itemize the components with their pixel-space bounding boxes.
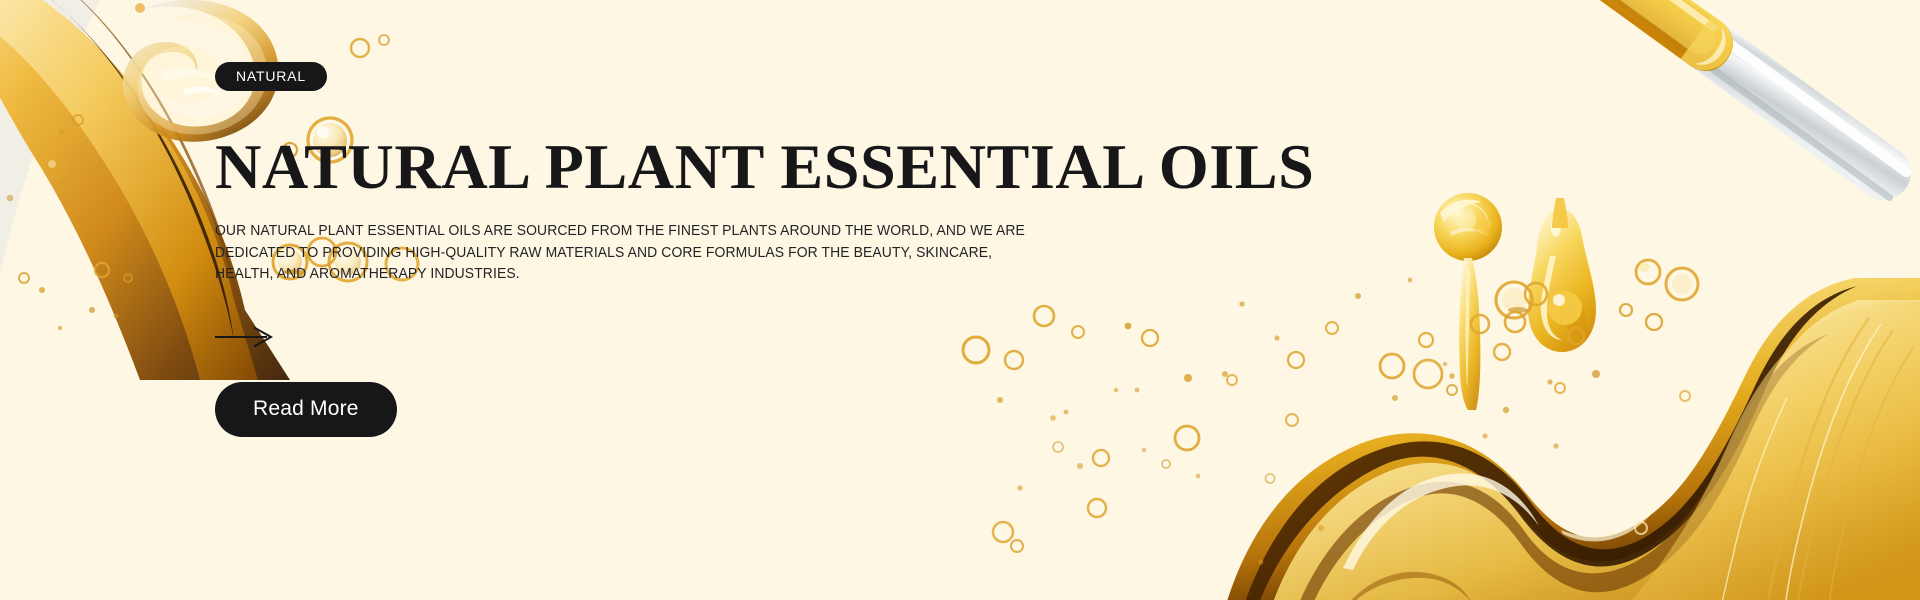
description-line-2: DEDICATED TO PROVIDING HIGH-QUALITY RAW … xyxy=(215,243,912,264)
hero-banner: NATURAL NATURAL PLANT ESSENTIAL OILS OUR… xyxy=(0,0,1920,600)
description-line-1: OUR NATURAL PLANT ESSENTIAL OILS ARE SOU… xyxy=(215,221,912,242)
read-more-button[interactable]: Read More xyxy=(215,382,397,437)
dropper-pipette-icon xyxy=(1410,0,1920,410)
arrow-right-link[interactable] xyxy=(215,326,273,348)
description-line-3: HEALTH, AND AROMATHERAPY INDUSTRIES. xyxy=(215,264,912,285)
arrow-right-icon xyxy=(215,326,273,348)
page-title: NATURAL PLANT ESSENTIAL OILS xyxy=(215,135,1215,199)
hero-content: NATURAL NATURAL PLANT ESSENTIAL OILS OUR… xyxy=(215,62,1195,437)
oil-bubbles-left xyxy=(0,150,250,380)
hero-description: OUR NATURAL PLANT ESSENTIAL OILS ARE SOU… xyxy=(215,221,912,285)
category-badge[interactable]: NATURAL xyxy=(215,62,327,91)
